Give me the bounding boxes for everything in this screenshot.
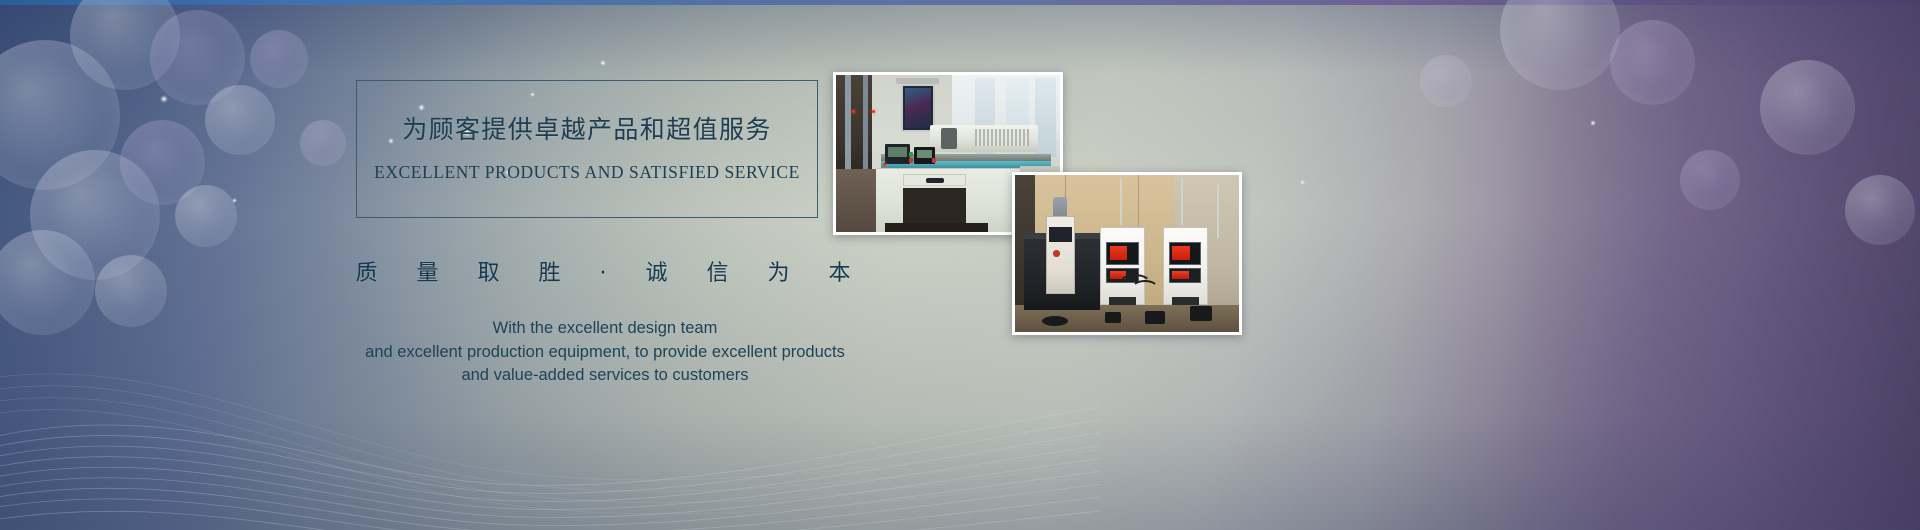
testing-equipment-photo [1012, 172, 1242, 335]
slogan-chinese: 质 量 取 胜 · 诚 信 为 本 [352, 263, 870, 285]
sparkle [1590, 120, 1596, 126]
sparkle [1300, 180, 1305, 185]
headline-chinese: 为顾客提供卓越产品和超值服务 [402, 117, 772, 142]
description-paragraph: With the excellent design team and excel… [340, 317, 870, 388]
bokeh-circle [1760, 60, 1855, 155]
sparkle [232, 198, 237, 203]
bokeh-circle [205, 85, 275, 155]
bokeh-circle [1500, 0, 1620, 90]
sparkle [600, 60, 606, 66]
bokeh-circle [250, 30, 308, 88]
bokeh-circle [1845, 175, 1915, 245]
headline-english: EXCELLENT PRODUCTS AND SATISFIED SERVICE [374, 164, 800, 182]
headline-frame: 为顾客提供卓越产品和超值服务 EXCELLENT PRODUCTS AND SA… [356, 80, 818, 218]
bokeh-circle [1680, 150, 1740, 210]
text-column: 为顾客提供卓越产品和超值服务 EXCELLENT PRODUCTS AND SA… [330, 70, 870, 388]
bokeh-circle [1610, 20, 1695, 105]
bokeh-circle [1420, 55, 1472, 107]
paragraph-line-1: With the excellent design team [340, 317, 870, 341]
paragraph-line-2: and excellent production equipment, to p… [340, 341, 870, 365]
sparkle [160, 95, 168, 103]
paragraph-line-3: and value-added services to customers [340, 364, 870, 388]
promo-banner: 为顾客提供卓越产品和超值服务 EXCELLENT PRODUCTS AND SA… [0, 0, 1920, 530]
